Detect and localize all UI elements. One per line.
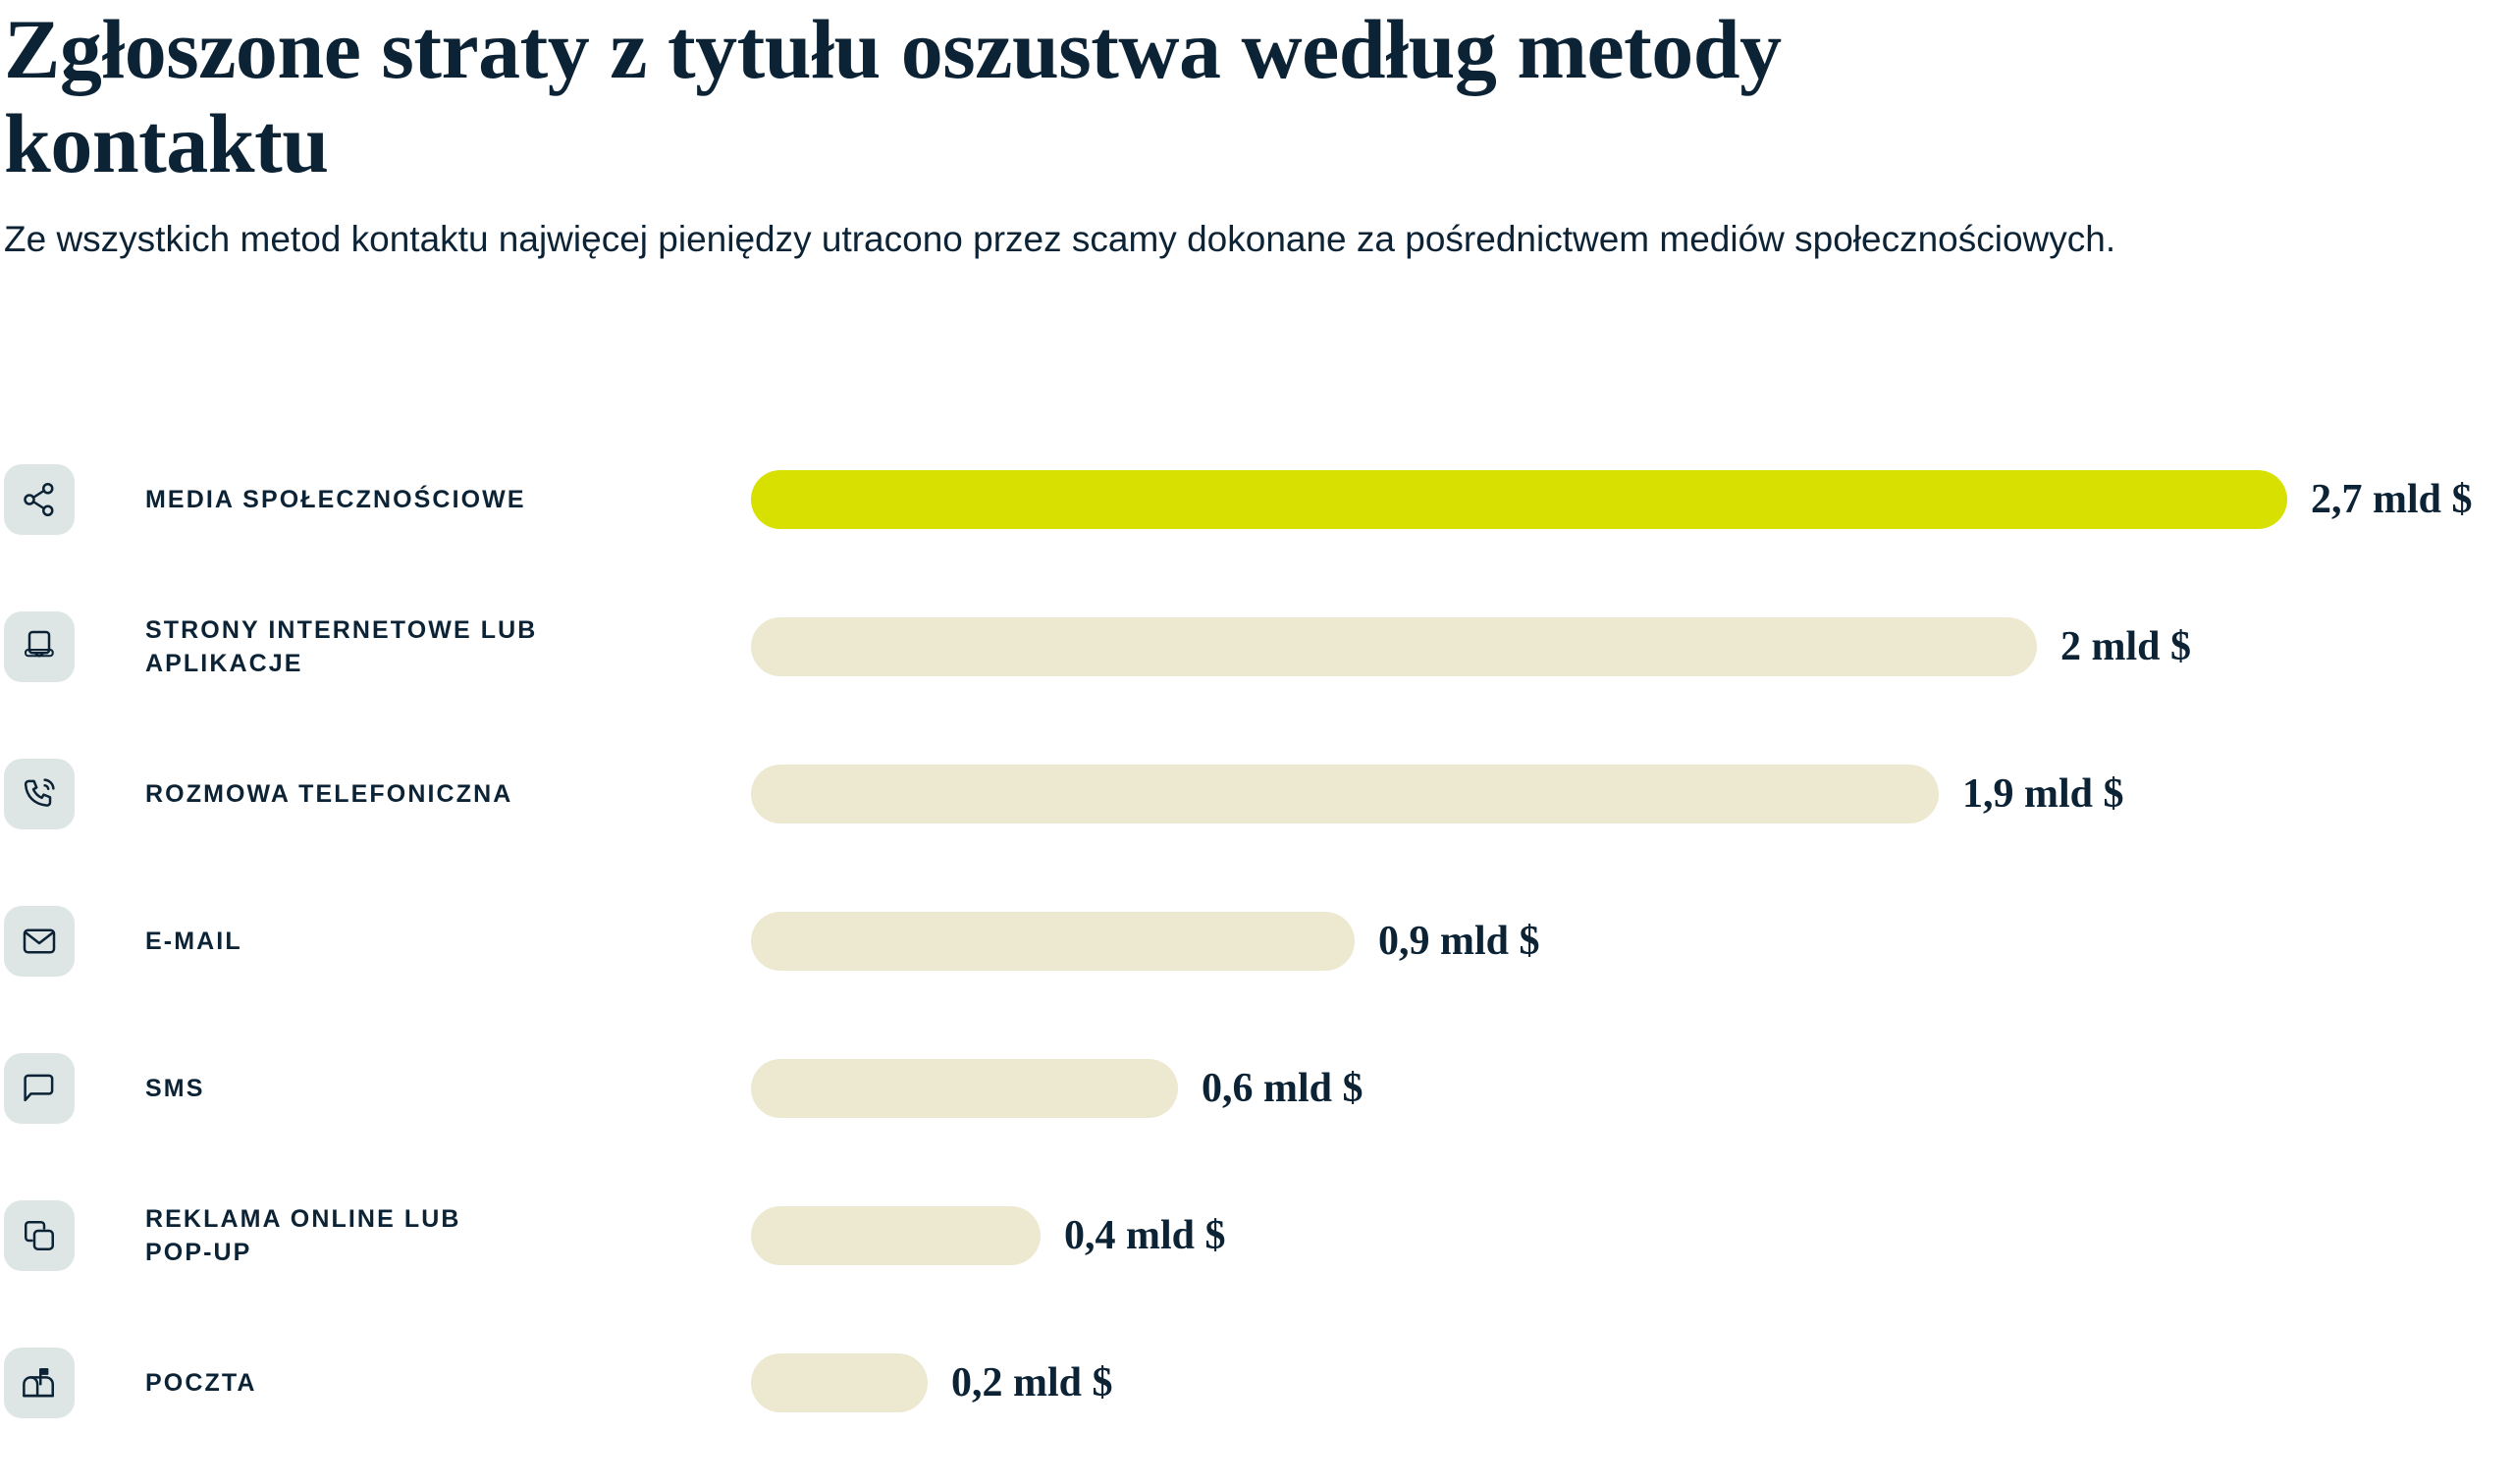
speech-bubble-icon-box — [4, 1053, 75, 1124]
share-icon-box — [4, 464, 75, 535]
chart-row: POCZTA0,2 mld $ — [0, 1337, 2513, 1484]
chart-row: MEDIA SPOŁECZNOŚCIOWE2,7 mld $ — [0, 453, 2513, 601]
bar-value-label: 2 mld $ — [2060, 623, 2191, 670]
chart-page: Zgłoszone straty z tytułu oszustwa wedłu… — [0, 0, 2513, 1465]
chart-row: SMS0,6 mld $ — [0, 1042, 2513, 1190]
category-label-line: REKLAMA ONLINE LUB — [145, 1202, 734, 1237]
chart-row: REKLAMA ONLINE LUBPOP-UP0,4 mld $ — [0, 1190, 2513, 1337]
bar-area: 0,4 mld $ — [751, 1190, 1226, 1282]
bar — [751, 1353, 928, 1412]
bar-value-label: 0,9 mld $ — [1378, 918, 1540, 965]
category-label-line: MEDIA SPOŁECZNOŚCIOWE — [145, 483, 734, 517]
category-label-line: POP-UP — [145, 1236, 734, 1270]
category-label-line: APLIKACJE — [145, 647, 734, 681]
bar-area: 0,6 mld $ — [751, 1042, 1363, 1135]
bar — [751, 470, 2287, 529]
bar-area: 1,9 mld $ — [751, 748, 2124, 840]
copy-windows-icon — [20, 1216, 59, 1255]
chart-row: E-MAIL0,9 mld $ — [0, 895, 2513, 1042]
chart-subtitle: Ze wszystkich metod kontaktu najwięcej p… — [4, 191, 2419, 266]
phone-call-icon-box — [4, 759, 75, 829]
chart-header: Zgłoszone straty z tytułu oszustwa wedłu… — [4, 0, 2419, 265]
category-label: E-MAIL — [145, 895, 734, 987]
laptop-icon-box — [4, 611, 75, 682]
laptop-icon — [20, 627, 59, 666]
bar — [751, 765, 1939, 823]
envelope-icon — [20, 922, 59, 961]
bar-value-label: 0,2 mld $ — [951, 1359, 1113, 1406]
mailbox-icon-box — [4, 1348, 75, 1418]
bar — [751, 1206, 1041, 1265]
phone-call-icon — [20, 774, 59, 814]
bar-area: 2 mld $ — [751, 601, 2191, 693]
share-icon — [20, 480, 59, 519]
bar — [751, 912, 1355, 971]
speech-bubble-icon — [20, 1069, 59, 1108]
bar-value-label: 0,6 mld $ — [1202, 1065, 1363, 1112]
chart-row: ROZMOWA TELEFONICZNA1,9 mld $ — [0, 748, 2513, 895]
category-label-line: STRONY INTERNETOWE LUB — [145, 613, 734, 648]
bar-area: 0,9 mld $ — [751, 895, 1540, 987]
category-label: ROZMOWA TELEFONICZNA — [145, 748, 734, 840]
envelope-icon-box — [4, 906, 75, 977]
category-label: MEDIA SPOŁECZNOŚCIOWE — [145, 453, 734, 546]
category-label-line: SMS — [145, 1072, 734, 1106]
bar — [751, 617, 2037, 676]
bar-area: 0,2 mld $ — [751, 1337, 1113, 1429]
category-label: SMS — [145, 1042, 734, 1135]
page-title: Zgłoszone straty z tytułu oszustwa wedłu… — [4, 0, 2105, 191]
chart-row: STRONY INTERNETOWE LUBAPLIKACJE2 mld $ — [0, 601, 2513, 748]
category-label: REKLAMA ONLINE LUBPOP-UP — [145, 1190, 734, 1282]
category-label: POCZTA — [145, 1337, 734, 1429]
bar-area: 2,7 mld $ — [751, 453, 2473, 546]
bar-value-label: 0,4 mld $ — [1064, 1212, 1226, 1259]
bar-value-label: 1,9 mld $ — [1962, 770, 2124, 818]
mailbox-icon — [20, 1363, 59, 1403]
copy-windows-icon-box — [4, 1200, 75, 1271]
category-label: STRONY INTERNETOWE LUBAPLIKACJE — [145, 601, 734, 693]
bar-chart-rows: MEDIA SPOŁECZNOŚCIOWE2,7 mld $STRONY INT… — [0, 453, 2513, 1484]
category-label-line: ROZMOWA TELEFONICZNA — [145, 777, 734, 812]
category-label-line: E-MAIL — [145, 925, 734, 959]
category-label-line: POCZTA — [145, 1366, 734, 1401]
bar-value-label: 2,7 mld $ — [2311, 476, 2473, 523]
bar — [751, 1059, 1178, 1118]
